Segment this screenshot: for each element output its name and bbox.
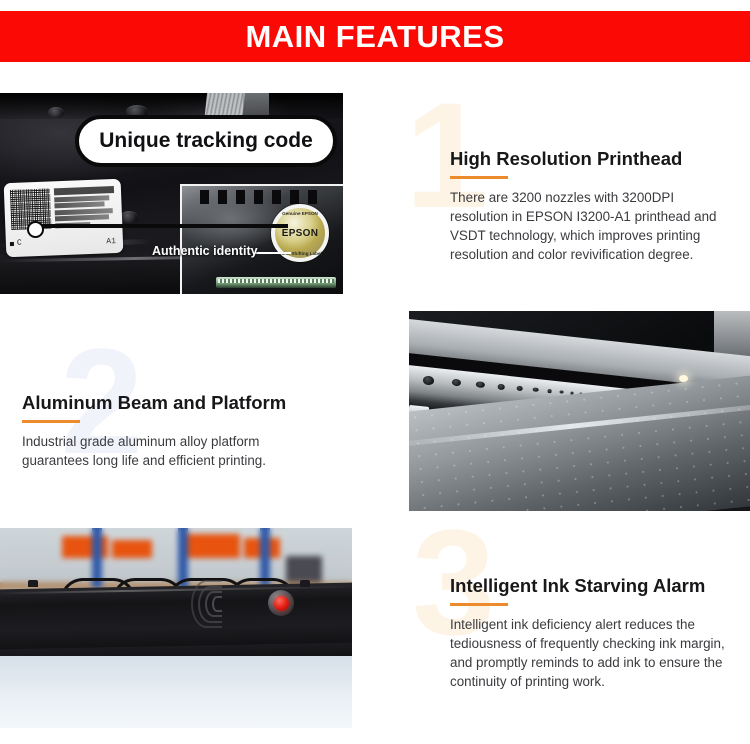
alarm-foreground-surface: [0, 656, 352, 728]
authentic-identity-inset-photo: Genuine EPSON Color Shifting Label EPSON: [180, 184, 343, 294]
authentic-identity-label: Authentic identity: [152, 244, 258, 258]
inset-nozzle-teeth: [200, 190, 325, 204]
printhead-screw: [120, 211, 138, 223]
callout-leader-dot: [27, 221, 44, 238]
feature-3-body: Intelligent ink deficiency alert reduces…: [450, 615, 735, 691]
feature-1-heading: High Resolution Printhead: [450, 148, 750, 169]
hologram-brand-label: EPSON: [282, 228, 319, 239]
feature-3-heading: Intelligent Ink Starving Alarm: [450, 575, 750, 596]
feature-2-body: Industrial grade aluminum alloy platform…: [22, 432, 307, 470]
alarm-cable-clip: [300, 580, 310, 587]
printhead-photo: C A1 Unique tracking code Genuine EPSON …: [0, 93, 343, 294]
unique-tracking-code-callout: Unique tracking code: [75, 115, 337, 167]
inset-connector-strip: [216, 277, 336, 288]
callout-leader-line: [38, 224, 288, 228]
feature-block-3: 3 Intelligent Ink Starving Alarm Intelli…: [450, 575, 750, 691]
label-code-suffix: A1: [106, 237, 116, 246]
feature-2-heading: Aluminum Beam and Platform: [22, 392, 342, 413]
unique-tracking-code-label: Unique tracking code: [99, 129, 313, 153]
aluminum-beam-photo: [409, 311, 750, 511]
feature-block-2: 2 Aluminum Beam and Platform Industrial …: [22, 392, 342, 470]
feature-1-body: There are 3200 nozzles with 3200DPI reso…: [450, 188, 735, 264]
ink-alarm-photo: [0, 528, 352, 728]
feature-3-accent-rule: [450, 603, 508, 606]
feature-2-accent-rule: [22, 420, 80, 423]
alarm-speaker-icon: [200, 586, 236, 618]
feature-block-1: 1 High Resolution Printhead There are 32…: [450, 148, 750, 264]
alarm-led-lens: [274, 596, 289, 611]
feature-1-accent-rule: [450, 176, 508, 179]
main-features-header-band: MAIN FEATURES: [0, 11, 750, 62]
tracking-code-label: C A1: [4, 179, 124, 257]
hologram-ring-top-label: Genuine EPSON: [282, 211, 318, 216]
authentic-identity-leader-line: [253, 252, 291, 254]
alarm-cable-clip: [28, 580, 38, 587]
printhead-screw: [48, 107, 64, 118]
beam-light-flare: [679, 375, 688, 382]
page-title: MAIN FEATURES: [245, 21, 504, 52]
alarm-red-indicator-light: [268, 590, 294, 616]
label-code-letter: C: [17, 239, 22, 248]
